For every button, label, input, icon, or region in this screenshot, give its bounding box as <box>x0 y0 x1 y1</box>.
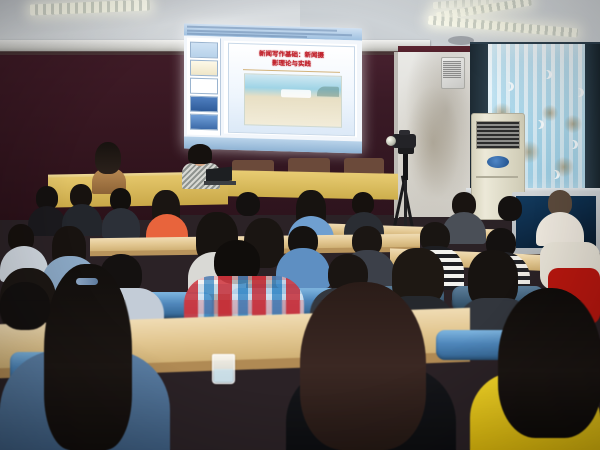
slide-thumbnail-pane <box>187 38 221 136</box>
projection-screen: 新闻写作基础：新闻摄 影理论与实践 <box>184 24 362 154</box>
list-item[interactable] <box>190 114 218 131</box>
list-item[interactable] <box>190 96 218 113</box>
foreground-person-hair <box>498 288 600 438</box>
slide-divider <box>243 69 340 73</box>
foreground-person-hair <box>300 282 426 450</box>
water-glass[interactable] <box>212 354 235 384</box>
hair-clip <box>76 278 98 285</box>
classroom-scene: 新闻写作基础：新闻摄 影理论与实践 <box>0 0 600 450</box>
foreground-person-hair <box>44 264 132 450</box>
laptop-operator-hair <box>188 144 212 164</box>
slide-title: 新闻写作基础：新闻摄 影理论与实践 <box>229 49 354 70</box>
slide-photo <box>244 73 342 128</box>
list-item[interactable] <box>190 78 218 95</box>
audience-head <box>498 196 522 221</box>
window-curtain-right <box>585 44 600 194</box>
list-item[interactable] <box>190 42 218 59</box>
speaker-grill <box>443 61 461 78</box>
audience-body <box>102 208 140 238</box>
tripod-column <box>403 150 408 180</box>
list-item[interactable] <box>190 60 218 77</box>
audience-head <box>236 192 260 216</box>
air-conditioner-seam <box>476 176 518 178</box>
laptop-base <box>204 181 236 185</box>
audience-head <box>0 282 50 330</box>
female-presenter-hair <box>95 142 121 174</box>
slide-photo-hill <box>317 86 339 97</box>
air-conditioner-grill <box>476 121 520 149</box>
video-camera-top <box>399 130 410 135</box>
slide-photo-boat <box>281 89 311 98</box>
air-conditioner-badge <box>487 156 509 168</box>
current-slide: 新闻写作基础：新闻摄 影理论与实践 <box>228 43 355 137</box>
video-camera-lens-icon <box>386 136 396 146</box>
